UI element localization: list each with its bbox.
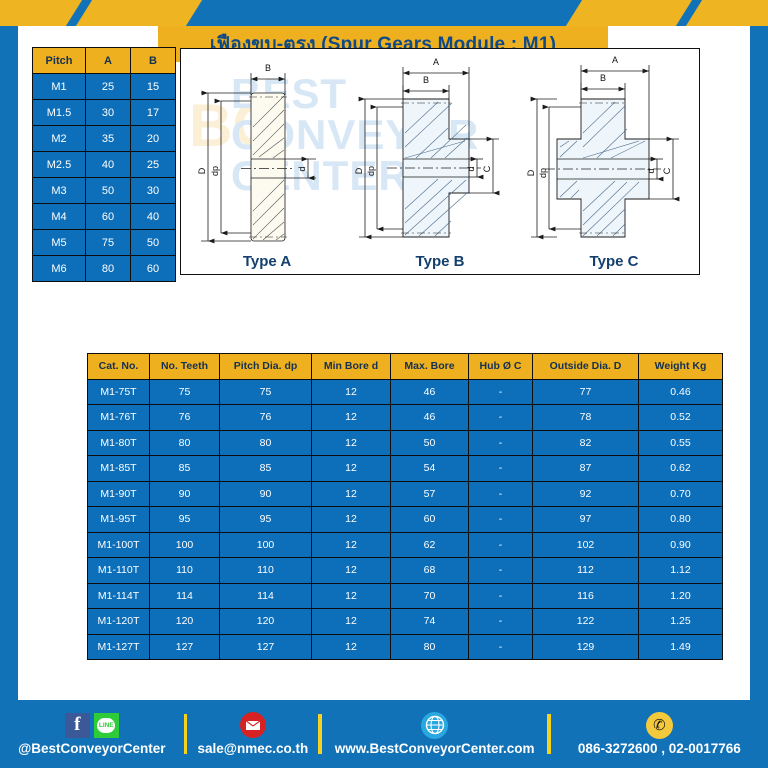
type-c-label: Type C xyxy=(527,253,700,270)
cell-hub-c: - xyxy=(469,634,533,660)
pitch-cell: M1.5 xyxy=(33,100,86,126)
stripe-shape xyxy=(563,0,694,26)
stripe-shape xyxy=(683,0,768,26)
top-section: Pitch A B M12515 M1.53017 M23520 M2.5402… xyxy=(32,47,700,275)
pitch-cell: 40 xyxy=(86,152,131,178)
cell-cat-no: M1-76T xyxy=(88,405,150,431)
facebook-icon[interactable]: f xyxy=(65,713,90,738)
table-row: M1-85T85851254-870.62 xyxy=(88,456,723,482)
cell-no-teeth: 114 xyxy=(150,583,220,609)
svg-text:C: C xyxy=(662,167,672,174)
cell-outside-dia: 97 xyxy=(533,507,639,533)
globe-glyph xyxy=(425,715,445,735)
footer-website[interactable]: www.BestConveyorCenter.com xyxy=(322,712,547,756)
gear-diagram-type-a: B D dp d Type A xyxy=(181,49,353,275)
cell-no-teeth: 100 xyxy=(150,532,220,558)
cell-pitch-dia: 100 xyxy=(220,532,312,558)
cell-outside-dia: 92 xyxy=(533,481,639,507)
svg-text:d: d xyxy=(297,166,307,171)
svg-text:A: A xyxy=(612,55,618,65)
col-header-weight: Weight Kg xyxy=(639,354,723,380)
cell-cat-no: M1-75T xyxy=(88,379,150,405)
cell-max-bore: 57 xyxy=(391,481,469,507)
pitch-cell: 20 xyxy=(131,126,176,152)
pitch-cell: 35 xyxy=(86,126,131,152)
corner-stripes-right xyxy=(538,0,768,26)
cell-pitch-dia: 95 xyxy=(220,507,312,533)
table-row: M57550 xyxy=(33,230,176,256)
email-address: sale@nmec.co.th xyxy=(198,741,309,756)
type-a-label: Type A xyxy=(181,253,353,270)
cell-min-bore: 12 xyxy=(312,507,391,533)
cell-min-bore: 12 xyxy=(312,405,391,431)
table-row: M1-76T76761246-780.52 xyxy=(88,405,723,431)
cell-no-teeth: 127 xyxy=(150,634,220,660)
type-a-drawing: B D dp d xyxy=(181,51,353,261)
gear-diagram-panel: BC BEST CONVEYOR CENTER xyxy=(180,48,700,275)
pitch-cell: 30 xyxy=(131,178,176,204)
pitch-table-header-row: Pitch A B xyxy=(33,48,176,74)
pitch-cell: M1 xyxy=(33,74,86,100)
mail-icon[interactable] xyxy=(240,712,266,738)
cell-min-bore: 12 xyxy=(312,558,391,584)
cell-outside-dia: 112 xyxy=(533,558,639,584)
cell-max-bore: 60 xyxy=(391,507,469,533)
footer-email[interactable]: sale@nmec.co.th xyxy=(187,712,318,756)
cell-min-bore: 12 xyxy=(312,583,391,609)
cell-hub-c: - xyxy=(469,583,533,609)
cell-min-bore: 12 xyxy=(312,609,391,635)
cell-min-bore: 12 xyxy=(312,456,391,482)
table-row: M1-95T95951260-970.80 xyxy=(88,507,723,533)
cell-outside-dia: 122 xyxy=(533,609,639,635)
phone-icons: ✆ xyxy=(646,712,673,738)
pitch-cell: 60 xyxy=(86,204,131,230)
cell-max-bore: 50 xyxy=(391,430,469,456)
cell-max-bore: 54 xyxy=(391,456,469,482)
cell-max-bore: 70 xyxy=(391,583,469,609)
gear-diagram-type-b: A B D dp d C Type B xyxy=(353,49,527,275)
pitch-cell: 60 xyxy=(131,256,176,282)
cell-weight: 1.20 xyxy=(639,583,723,609)
cell-hub-c: - xyxy=(469,481,533,507)
spec-table-header-row: Cat. No. No. Teeth Pitch Dia. dp Min Bor… xyxy=(88,354,723,380)
pitch-cell: 25 xyxy=(86,74,131,100)
cell-cat-no: M1-127T xyxy=(88,634,150,660)
cell-hub-c: - xyxy=(469,609,533,635)
pitch-header-a: A xyxy=(86,48,131,74)
table-row: M1-110T1101101268-1121.12 xyxy=(88,558,723,584)
table-row: M1-120T1201201274-1221.25 xyxy=(88,609,723,635)
svg-text:A: A xyxy=(433,57,439,67)
cell-hub-c: - xyxy=(469,379,533,405)
cell-max-bore: 46 xyxy=(391,379,469,405)
cell-no-teeth: 80 xyxy=(150,430,220,456)
stripe-shape xyxy=(0,0,85,26)
col-header-no-teeth: No. Teeth xyxy=(150,354,220,380)
svg-text:B: B xyxy=(600,73,606,83)
cell-hub-c: - xyxy=(469,430,533,456)
website-url: www.BestConveyorCenter.com xyxy=(335,741,535,756)
pitch-cell: M6 xyxy=(33,256,86,282)
cell-pitch-dia: 110 xyxy=(220,558,312,584)
cell-min-bore: 12 xyxy=(312,532,391,558)
envelope-glyph xyxy=(245,720,261,731)
pitch-cell: M5 xyxy=(33,230,86,256)
svg-text:d: d xyxy=(646,168,656,173)
pitch-cell: 25 xyxy=(131,152,176,178)
cell-pitch-dia: 120 xyxy=(220,609,312,635)
cell-hub-c: - xyxy=(469,507,533,533)
cell-weight: 0.70 xyxy=(639,481,723,507)
table-row: M1-114T1141141270-1161.20 xyxy=(88,583,723,609)
cell-hub-c: - xyxy=(469,532,533,558)
table-row: M46040 xyxy=(33,204,176,230)
cell-pitch-dia: 75 xyxy=(220,379,312,405)
table-row: M1-80T80801250-820.55 xyxy=(88,430,723,456)
cell-weight: 1.49 xyxy=(639,634,723,660)
cell-weight: 1.12 xyxy=(639,558,723,584)
pitch-table: Pitch A B M12515 M1.53017 M23520 M2.5402… xyxy=(32,47,176,282)
pitch-cell: 50 xyxy=(131,230,176,256)
pitch-cell: M3 xyxy=(33,178,86,204)
website-icons xyxy=(421,712,448,738)
social-handle: @BestConveyorCenter xyxy=(18,741,165,756)
pitch-cell: M2.5 xyxy=(33,152,86,178)
footer-social[interactable]: f LINE @BestConveyorCenter xyxy=(0,712,184,756)
cell-no-teeth: 120 xyxy=(150,609,220,635)
cell-pitch-dia: 80 xyxy=(220,430,312,456)
col-header-outside-dia: Outside Dia. D xyxy=(533,354,639,380)
svg-text:dp: dp xyxy=(366,166,376,176)
type-b-drawing: A B D dp d C xyxy=(353,51,527,261)
col-header-pitch-dia: Pitch Dia. dp xyxy=(220,354,312,380)
cell-outside-dia: 116 xyxy=(533,583,639,609)
table-row: M35030 xyxy=(33,178,176,204)
table-row: M12515 xyxy=(33,74,176,100)
pitch-header-b: B xyxy=(131,48,176,74)
cell-hub-c: - xyxy=(469,456,533,482)
cell-outside-dia: 82 xyxy=(533,430,639,456)
pitch-header-pitch: Pitch xyxy=(33,48,86,74)
svg-text:D: D xyxy=(354,167,364,174)
line-icon[interactable]: LINE xyxy=(94,713,119,738)
cell-weight: 0.80 xyxy=(639,507,723,533)
col-header-cat-no: Cat. No. xyxy=(88,354,150,380)
svg-text:B: B xyxy=(265,63,271,73)
svg-text:D: D xyxy=(527,169,536,176)
cell-min-bore: 12 xyxy=(312,430,391,456)
table-row: M1-75T75751246-770.46 xyxy=(88,379,723,405)
email-icons xyxy=(240,712,266,738)
cell-no-teeth: 75 xyxy=(150,379,220,405)
cell-pitch-dia: 76 xyxy=(220,405,312,431)
cell-cat-no: M1-85T xyxy=(88,456,150,482)
cell-min-bore: 12 xyxy=(312,634,391,660)
pitch-cell: 15 xyxy=(131,74,176,100)
col-header-hub-c: Hub Ø C xyxy=(469,354,533,380)
cell-max-bore: 80 xyxy=(391,634,469,660)
cell-cat-no: M1-100T xyxy=(88,532,150,558)
cell-no-teeth: 110 xyxy=(150,558,220,584)
col-header-max-bore: Max. Bore xyxy=(391,354,469,380)
cell-min-bore: 12 xyxy=(312,379,391,405)
cell-max-bore: 68 xyxy=(391,558,469,584)
table-row: M1-90T90901257-920.70 xyxy=(88,481,723,507)
stripe-shape xyxy=(73,0,204,26)
table-row: M1.53017 xyxy=(33,100,176,126)
svg-text:dp: dp xyxy=(210,166,220,176)
cell-cat-no: M1-120T xyxy=(88,609,150,635)
cell-max-bore: 74 xyxy=(391,609,469,635)
cell-no-teeth: 85 xyxy=(150,456,220,482)
table-row: M2.54025 xyxy=(33,152,176,178)
cell-weight: 0.55 xyxy=(639,430,723,456)
pitch-cell: 75 xyxy=(86,230,131,256)
svg-text:dp: dp xyxy=(538,168,548,178)
pitch-cell: M2 xyxy=(33,126,86,152)
table-row: M23520 xyxy=(33,126,176,152)
table-row: M1-127T1271271280-1291.49 xyxy=(88,634,723,660)
cell-weight: 0.52 xyxy=(639,405,723,431)
type-b-label: Type B xyxy=(353,253,527,270)
cell-weight: 0.90 xyxy=(639,532,723,558)
cell-min-bore: 12 xyxy=(312,481,391,507)
cell-pitch-dia: 90 xyxy=(220,481,312,507)
cell-cat-no: M1-90T xyxy=(88,481,150,507)
cell-outside-dia: 77 xyxy=(533,379,639,405)
cell-cat-no: M1-95T xyxy=(88,507,150,533)
cell-outside-dia: 102 xyxy=(533,532,639,558)
pitch-cell: 17 xyxy=(131,100,176,126)
cell-no-teeth: 90 xyxy=(150,481,220,507)
social-icons: f LINE xyxy=(65,712,119,738)
cell-max-bore: 46 xyxy=(391,405,469,431)
pitch-cell: 50 xyxy=(86,178,131,204)
cell-hub-c: - xyxy=(469,558,533,584)
col-header-min-bore: Min Bore d xyxy=(312,354,391,380)
cell-no-teeth: 76 xyxy=(150,405,220,431)
cell-no-teeth: 95 xyxy=(150,507,220,533)
gear-diagram-type-c: A B D dp d C Type C xyxy=(527,49,700,275)
cell-weight: 0.62 xyxy=(639,456,723,482)
cell-weight: 0.46 xyxy=(639,379,723,405)
svg-text:D: D xyxy=(197,167,207,174)
cell-hub-c: - xyxy=(469,405,533,431)
pitch-cell: 40 xyxy=(131,204,176,230)
cell-cat-no: M1-80T xyxy=(88,430,150,456)
svg-text:C: C xyxy=(482,165,492,172)
globe-icon[interactable] xyxy=(421,712,448,739)
contact-footer: f LINE @BestConveyorCenter sale@nmec.co.… xyxy=(0,700,768,768)
footer-phone[interactable]: ✆ 086-3272600 , 02-0017766 xyxy=(551,712,768,756)
svg-text:d: d xyxy=(466,166,476,171)
cell-weight: 1.25 xyxy=(639,609,723,635)
cell-cat-no: M1-110T xyxy=(88,558,150,584)
cell-pitch-dia: 114 xyxy=(220,583,312,609)
cell-cat-no: M1-114T xyxy=(88,583,150,609)
table-row: M1-100T1001001262-1020.90 xyxy=(88,532,723,558)
svg-text:B: B xyxy=(423,75,429,85)
cell-max-bore: 62 xyxy=(391,532,469,558)
pitch-cell: 80 xyxy=(86,256,131,282)
pitch-cell: 30 xyxy=(86,100,131,126)
gear-specification-table: Cat. No. No. Teeth Pitch Dia. dp Min Bor… xyxy=(87,353,723,660)
cell-outside-dia: 78 xyxy=(533,405,639,431)
table-row: M68060 xyxy=(33,256,176,282)
type-c-drawing: A B D dp d C xyxy=(527,51,700,261)
phone-numbers: 086-3272600 , 02-0017766 xyxy=(578,741,741,756)
phone-icon[interactable]: ✆ xyxy=(646,712,673,739)
pitch-cell: M4 xyxy=(33,204,86,230)
cell-pitch-dia: 85 xyxy=(220,456,312,482)
cell-outside-dia: 87 xyxy=(533,456,639,482)
cell-outside-dia: 129 xyxy=(533,634,639,660)
corner-stripes-left xyxy=(0,0,230,26)
cell-pitch-dia: 127 xyxy=(220,634,312,660)
